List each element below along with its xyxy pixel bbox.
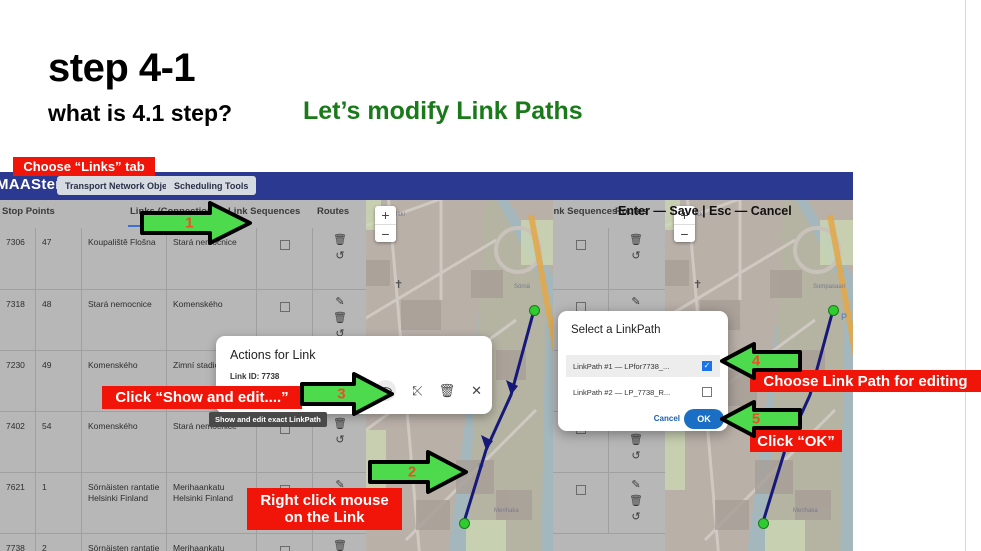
cell-seq-num: 54 (36, 412, 82, 472)
zoom-out-button[interactable]: − (375, 224, 396, 242)
cell-seq-num: 47 (36, 228, 82, 289)
tab-routes[interactable]: Routes (317, 206, 349, 217)
trash-icon[interactable]: 🗑 (629, 496, 643, 507)
callout-number-1: 1 (185, 215, 193, 232)
callout-arrow-3: 3 (300, 372, 394, 416)
page-subtitle: what is 4.1 step? (48, 100, 232, 127)
cell-actions[interactable]: 🗑 ↺ (609, 228, 662, 289)
row-checkbox[interactable] (576, 240, 586, 250)
tab-link-sequences-right[interactable]: Link Sequences (553, 206, 617, 217)
callout-arrow-2: 2 (368, 450, 468, 494)
cell-select[interactable] (553, 473, 609, 533)
trash-icon[interactable]: 🗑 (333, 313, 347, 324)
ok-button[interactable]: OK (684, 409, 724, 429)
cell-actions[interactable]: 🗑 ↺ (313, 534, 366, 551)
row-checkbox[interactable] (576, 485, 586, 495)
row-checkbox[interactable] (280, 302, 290, 312)
fork-icon[interactable]: ↺ (631, 451, 640, 462)
row-checkbox[interactable] (280, 546, 290, 551)
nav-tab-scheduling-tools[interactable]: Scheduling Tools (166, 176, 256, 195)
table-row[interactable]: ✎ 🗑 ↺ (553, 473, 665, 534)
fork-icon[interactable]: ↺ (335, 251, 344, 262)
cancel-button[interactable]: Cancel (654, 414, 680, 423)
trash-icon[interactable]: 🗑 (333, 235, 347, 246)
callout-arrow-5: 5 (720, 400, 802, 438)
linkpath-option-1-label: LinkPath #1 — LPfor7738_... (573, 362, 669, 371)
table-row[interactable]: 🗑 ↺ (553, 228, 665, 290)
cell-link-id: 7402 (0, 412, 36, 472)
linkpath-option-2[interactable]: LinkPath #2 — LP_7738_R... (566, 381, 720, 403)
callout-number-5: 5 (752, 411, 760, 428)
cell-link-id: 7738 (0, 534, 36, 551)
trash-icon[interactable]: 🗑 (333, 541, 347, 551)
pencil-icon[interactable]: ✎ (631, 297, 640, 308)
link-end-node[interactable] (758, 518, 769, 529)
annotation-right-click-line1: Right click mouse (260, 492, 388, 509)
cell-from: Komenského (82, 412, 167, 472)
church-icon: ✝ (693, 278, 702, 291)
cell-to: Merihaankatu Helsinki Finland (167, 534, 257, 551)
dialog-title: Select a LinkPath (571, 324, 661, 336)
zoom-in-button[interactable]: + (375, 206, 396, 224)
pencil-icon[interactable]: ✎ (335, 297, 344, 308)
cell-seq-num: 1 (36, 473, 82, 533)
annotation-click-show-and-edit: Click “Show and edit....” (102, 386, 302, 409)
linkpath-option-1[interactable]: LinkPath #1 — LPfor7738_... ✓ (566, 355, 720, 377)
callout-arrow-1: 1 (140, 201, 252, 245)
callout-number-2: 2 (408, 464, 416, 481)
callout-number-3: 3 (337, 386, 345, 403)
save-cancel-hint: Enter — Save | Esc — Cancel (618, 204, 792, 218)
cell-select[interactable] (257, 228, 313, 289)
app-brand: MAASter (0, 176, 61, 193)
select-linkpath-dialog: Select a LinkPath LinkPath #1 — LPfor773… (558, 311, 728, 431)
cell-from: Sörnäisten rantatie Helsinki Finland (82, 473, 167, 533)
church-icon: ✝ (394, 278, 403, 291)
cell-seq-num: 49 (36, 351, 82, 411)
table-row[interactable]: 7738 2 Sörnäisten rantatie Helsinki Finl… (0, 534, 366, 551)
annotation-choose-links-tab: Choose “Links” tab (13, 157, 155, 176)
link-end-node[interactable] (459, 518, 470, 529)
callout-arrow-4: 4 (720, 342, 802, 380)
cell-link-id: 7318 (0, 290, 36, 350)
tab-stop-points[interactable]: Stop Points (2, 206, 55, 217)
row-checkbox[interactable] (280, 240, 290, 250)
page-title: step 4-1 (48, 46, 195, 91)
actions-popup-link-id: Link ID: 7738 (230, 372, 279, 381)
shuffle-icon[interactable]: ⤪ (412, 383, 422, 399)
trash-icon[interactable]: 🗑 (333, 419, 347, 430)
link-start-node[interactable] (529, 305, 540, 316)
cell-link-id: 7306 (0, 228, 36, 289)
linkpath-option-2-checkbox[interactable] (702, 387, 712, 397)
cell-link-id: 7230 (0, 351, 36, 411)
map-zoom-control[interactable]: + − (375, 206, 396, 242)
fork-icon[interactable]: ↺ (631, 251, 640, 262)
callout-number-4: 4 (752, 353, 760, 370)
slide-right-margin (853, 0, 981, 551)
cell-from: Sörnäisten rantatie Helsinki Finland (82, 534, 167, 551)
fork-icon[interactable]: ↺ (631, 512, 640, 523)
fork-icon[interactable]: ↺ (335, 435, 344, 446)
cell-actions[interactable]: 🗑 ↺ (313, 228, 366, 289)
close-icon[interactable]: ✕ (471, 383, 482, 399)
zoom-out-button[interactable]: − (674, 224, 695, 242)
annotation-right-click-line2: on the Link (285, 509, 365, 526)
app-navbar: MAASter Transport Network Objects Schedu… (0, 172, 554, 200)
pencil-icon[interactable]: ✎ (631, 480, 640, 491)
annotation-right-click-link: Right click mouse on the Link (247, 488, 402, 530)
app-navbar-right (553, 172, 853, 200)
cell-from: Stará nemocnice (82, 290, 167, 350)
cell-seq-num: 2 (36, 534, 82, 551)
actions-popup-title: Actions for Link (230, 348, 315, 362)
trash-icon[interactable]: 🗑 (629, 435, 643, 446)
slide-root: step 4-1 what is 4.1 step? Let’s modify … (0, 0, 981, 551)
cell-link-id: 7621 (0, 473, 36, 533)
trash-icon[interactable]: 🗑 (629, 235, 643, 246)
cell-to: Merihaankatu Helsinki Finland (167, 473, 257, 533)
cell-actions[interactable]: ✎ 🗑 ↺ (609, 473, 662, 533)
page-highlight: Let’s modify Link Paths (303, 97, 583, 126)
trash-icon[interactable]: 🗑 (439, 383, 456, 399)
linkpath-option-2-label: LinkPath #2 — LP_7738_R... (573, 388, 670, 397)
link-start-node[interactable] (828, 305, 839, 316)
slide-edge-divider (965, 0, 966, 551)
linkpath-option-1-checkbox[interactable]: ✓ (702, 361, 712, 371)
cell-seq-num: 48 (36, 290, 82, 350)
cell-select[interactable] (553, 228, 609, 289)
cell-select[interactable] (257, 534, 313, 551)
